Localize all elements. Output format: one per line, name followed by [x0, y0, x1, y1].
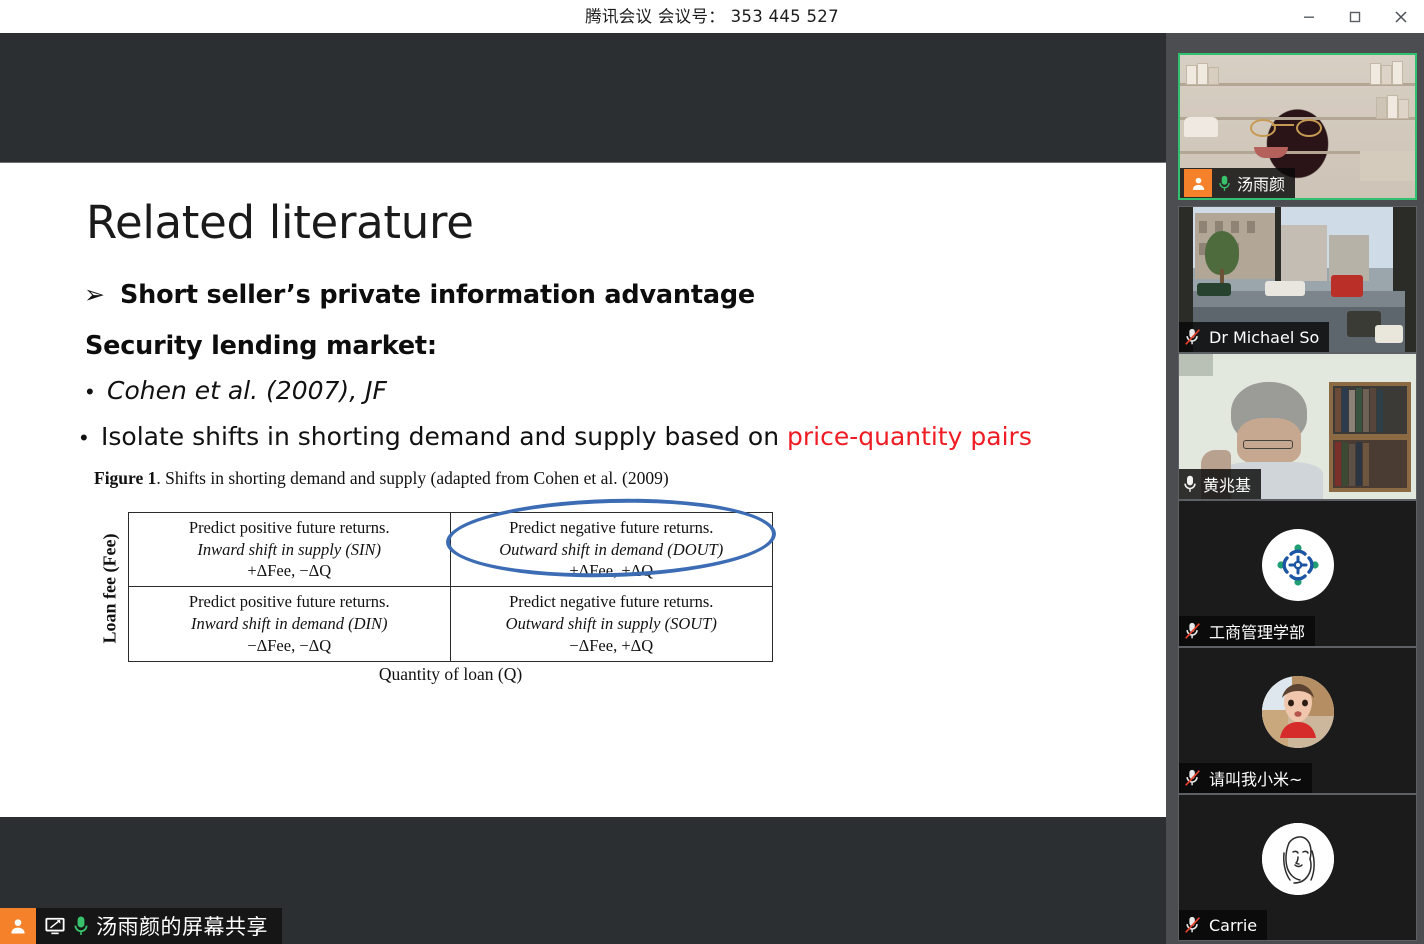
meeting-window: 腾讯会议 会议号： 353 445 527 Related lit: [0, 0, 1424, 944]
figure-1: Figure 1. Shifts in shorting demand and …: [94, 468, 794, 683]
slide-subheading: Security lending market:: [85, 331, 437, 361]
bullet-item-1-highlight: price-quantity pairs: [787, 422, 1032, 451]
photo-child-icon: [1262, 676, 1334, 748]
cell-line-3: +ΔFee, +ΔQ: [569, 560, 653, 582]
quadrant-cell: Predict positive future returns. Inward …: [129, 513, 451, 587]
figure-y-axis-label: Loan fee (Fee): [98, 516, 122, 661]
cell-line-3: −ΔFee, −ΔQ: [247, 635, 331, 657]
quadrant-cell: Predict negative future returns. Outward…: [451, 513, 773, 587]
avatar: [1262, 676, 1334, 748]
minimize-button[interactable]: [1286, 0, 1332, 33]
mic-on-icon[interactable]: [1218, 174, 1231, 193]
mic-on-icon: [73, 915, 89, 937]
participant-name-bar: 汤雨颜: [1180, 168, 1295, 198]
avatar: [1262, 529, 1334, 601]
figure-caption: Figure 1. Shifts in shorting demand and …: [94, 468, 669, 489]
participant-tile-4[interactable]: 请叫我小米~: [1178, 647, 1417, 794]
participant-name: 请叫我小米~: [1209, 766, 1302, 790]
participant-list: 汤雨颜: [1166, 33, 1424, 944]
participant-tile-3[interactable]: 工商管理学部: [1178, 500, 1417, 647]
close-button[interactable]: [1378, 0, 1424, 33]
participant-name-bar: 黄兆基: [1179, 469, 1261, 499]
share-host-badge: [0, 908, 36, 944]
participant-tile-0[interactable]: 汤雨颜: [1178, 53, 1417, 200]
participant-name-bar: 请叫我小米~: [1179, 763, 1312, 793]
figure-x-axis-label: Quantity of loan (Q): [128, 664, 773, 685]
figure-quadrant-grid: Predict positive future returns. Inward …: [128, 512, 773, 662]
title-bar: 腾讯会议 会议号： 353 445 527: [0, 0, 1424, 33]
share-owner-name: 汤雨颜的屏幕共享: [96, 911, 268, 941]
participant-name: Dr Michael So: [1209, 328, 1319, 347]
quadrant-cell: Predict positive future returns. Inward …: [129, 587, 451, 661]
person-icon: [8, 916, 28, 936]
bullet-item-1-text: Isolate shifts in shorting demand and su…: [101, 422, 787, 451]
cell-line-2: Inward shift in demand (DIN): [191, 613, 387, 635]
presentation-slide: Related literature ➢ Short seller’s priv…: [0, 163, 1166, 817]
cell-line-1: Predict positive future returns.: [189, 517, 390, 539]
cell-line-3: −ΔFee, +ΔQ: [569, 635, 653, 657]
cell-line-1: Predict negative future returns.: [509, 517, 713, 539]
participant-name: 汤雨颜: [1237, 171, 1285, 195]
mic-muted-icon[interactable]: [1183, 768, 1203, 788]
avatar: [1262, 823, 1334, 895]
figure-caption-rest: . Shifts in shorting demand and supply (…: [156, 468, 668, 488]
person-icon: [1190, 175, 1207, 192]
maximize-button[interactable]: [1332, 0, 1378, 33]
mic-muted-icon[interactable]: [1183, 915, 1203, 935]
mic-on-icon[interactable]: [1183, 474, 1197, 494]
maximize-icon: [1347, 9, 1363, 25]
close-icon: [1392, 8, 1410, 26]
arrow-bullet-icon: ➢: [84, 283, 105, 308]
quadrant-cell: Predict negative future returns. Outward…: [451, 587, 773, 661]
cell-line-1: Predict negative future returns.: [509, 591, 713, 613]
slide-heading: Short seller’s private information advan…: [120, 280, 755, 310]
cell-line-2: Outward shift in supply (SOUT): [506, 613, 717, 635]
cell-line-2: Outward shift in demand (DOUT): [499, 539, 723, 561]
window-controls: [1286, 0, 1424, 33]
figure-caption-label: Figure 1: [94, 468, 156, 488]
participant-tile-2[interactable]: 黄兆基: [1178, 353, 1417, 500]
participant-name-bar: Dr Michael So: [1179, 322, 1329, 352]
line-art-woman-icon: [1262, 823, 1334, 895]
participant-name-bar: Carrie: [1179, 910, 1267, 940]
bullet-item-1: Isolate shifts in shorting demand and su…: [101, 422, 1032, 451]
participant-panel: 汤雨颜: [1166, 33, 1424, 944]
participant-name: Carrie: [1209, 916, 1257, 935]
meeting-title: 腾讯会议 会议号： 353 445 527: [0, 0, 1424, 33]
screen-share-icon: [44, 916, 66, 936]
cell-line-2: Inward shift in supply (SIN): [197, 539, 381, 561]
slide-title: Related literature: [86, 196, 474, 249]
cell-line-3: +ΔFee, −ΔQ: [247, 560, 331, 582]
participant-tile-1[interactable]: Dr Michael So: [1178, 206, 1417, 353]
participant-tile-5[interactable]: Carrie: [1178, 794, 1417, 941]
screen-share-indicator: 汤雨颜的屏幕共享: [0, 908, 282, 944]
participant-name-bar: 工商管理学部: [1179, 616, 1315, 646]
mic-muted-icon[interactable]: [1183, 327, 1203, 347]
minimize-icon: [1301, 9, 1317, 25]
host-badge: [1184, 169, 1212, 197]
share-label-group: 汤雨颜的屏幕共享: [36, 908, 282, 944]
logo-snowflake-icon: [1268, 535, 1328, 595]
shared-screen-stage: Related literature ➢ Short seller’s priv…: [0, 33, 1166, 944]
bullet-dot-icon: •: [80, 427, 88, 449]
participant-name: 黄兆基: [1203, 472, 1251, 496]
cell-line-1: Predict positive future returns.: [189, 591, 390, 613]
figure-y-axis-text: Loan fee (Fee): [100, 534, 121, 644]
participant-name: 工商管理学部: [1209, 619, 1305, 643]
mic-muted-icon[interactable]: [1183, 621, 1203, 641]
bullet-dot-icon: •: [86, 381, 94, 403]
bullet-item-0: Cohen et al. (2007), JF: [107, 376, 387, 405]
